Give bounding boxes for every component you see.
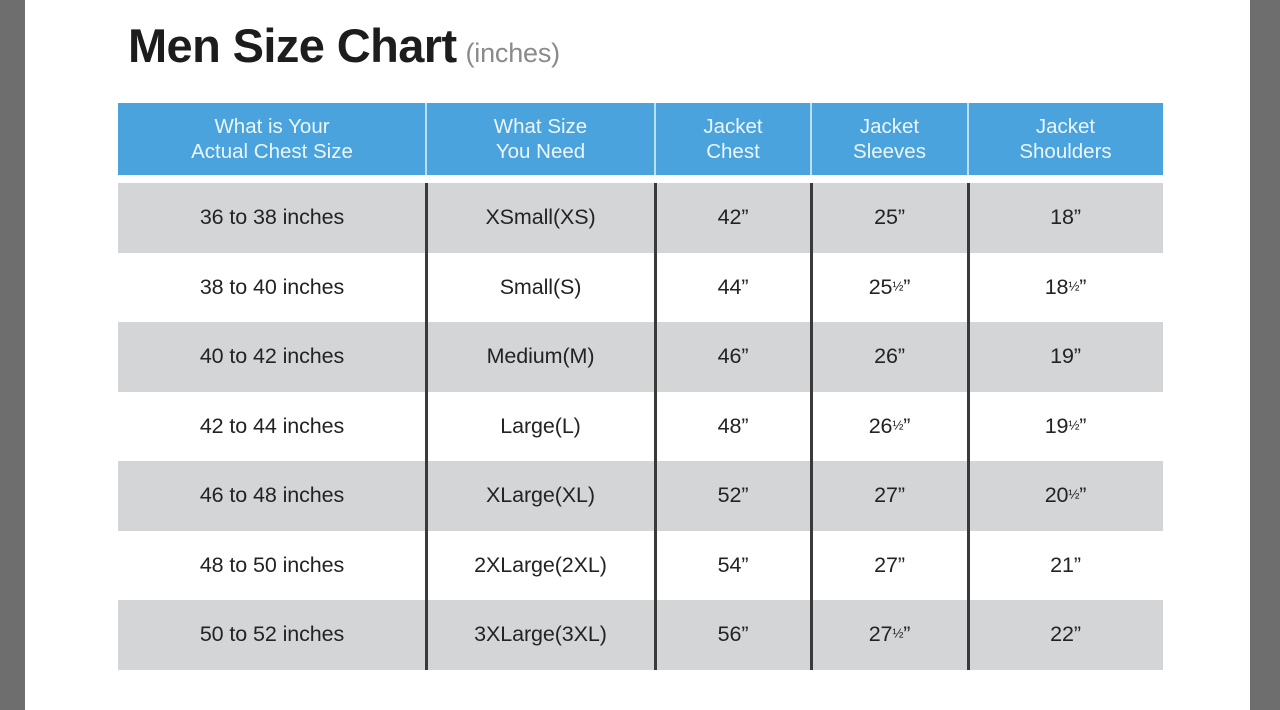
cell-chest-range: 40 to 42 inches xyxy=(118,322,426,392)
cell-jacket-shoulders-text: 18” xyxy=(1050,205,1081,230)
cell-jacket-sleeves-text: 27½” xyxy=(869,622,911,647)
column-header-line2: You Need xyxy=(496,139,585,164)
column-header-line2: Shoulders xyxy=(1019,139,1111,164)
cell-jacket-sleeves-text: 26” xyxy=(874,344,905,369)
cell-jacket-sleeves: 27” xyxy=(811,531,968,601)
cell-chest-range: 50 to 52 inches xyxy=(118,600,426,670)
column-header-line1: What Size xyxy=(494,114,587,139)
cell-chest-range: 42 to 44 inches xyxy=(118,392,426,462)
cell-jacket-chest: 56” xyxy=(655,600,811,670)
size-chart-table: What is Your Actual Chest Size What Size… xyxy=(118,103,1163,670)
cell-jacket-shoulders-text: 21” xyxy=(1050,553,1081,578)
cell-jacket-chest-text: 56” xyxy=(718,622,749,647)
table-row: 48 to 50 inches2XLarge(2XL)54”27”21” xyxy=(118,531,1163,601)
table-row: 42 to 44 inchesLarge(L)48”26½”19½” xyxy=(118,392,1163,462)
cell-size-name-text: Small(S) xyxy=(500,275,582,300)
cell-jacket-shoulders-text: 19½” xyxy=(1045,414,1087,439)
cell-jacket-shoulders-text: 19” xyxy=(1050,344,1081,369)
cell-jacket-sleeves-text: 27” xyxy=(874,553,905,578)
cell-jacket-chest: 42” xyxy=(655,183,811,253)
column-header-line1: Jacket xyxy=(703,114,762,139)
cell-jacket-sleeves-text: 26½” xyxy=(869,414,911,439)
cell-chest-range-text: 42 to 44 inches xyxy=(200,414,344,439)
cell-size-name: Small(S) xyxy=(426,253,655,323)
column-header-line1: What is Your xyxy=(214,114,329,139)
cell-chest-range-text: 46 to 48 inches xyxy=(200,483,344,508)
cell-jacket-sleeves: 26” xyxy=(811,322,968,392)
table-header-row: What is Your Actual Chest Size What Size… xyxy=(118,103,1163,175)
cell-jacket-sleeves-text: 25½” xyxy=(869,275,911,300)
table-row: 36 to 38 inchesXSmall(XS)42”25”18” xyxy=(118,183,1163,253)
table-body: 36 to 38 inchesXSmall(XS)42”25”18”38 to … xyxy=(118,183,1163,670)
cell-jacket-shoulders: 19½” xyxy=(968,392,1163,462)
cell-jacket-sleeves-text: 27” xyxy=(874,483,905,508)
cell-jacket-sleeves: 25½” xyxy=(811,253,968,323)
table-row: 50 to 52 inches3XLarge(3XL)56”27½”22” xyxy=(118,600,1163,670)
column-header-jacket-shoulders: Jacket Shoulders xyxy=(968,103,1163,175)
cell-jacket-shoulders-text: 18½” xyxy=(1045,275,1087,300)
column-header-jacket-sleeves: Jacket Sleeves xyxy=(811,103,968,175)
left-letterbox-bar xyxy=(0,0,25,710)
cell-jacket-chest-text: 54” xyxy=(718,553,749,578)
cell-chest-range-text: 38 to 40 inches xyxy=(200,275,344,300)
cell-chest-range: 48 to 50 inches xyxy=(118,531,426,601)
column-header-size-you-need: What Size You Need xyxy=(426,103,655,175)
cell-size-name: Large(L) xyxy=(426,392,655,462)
cell-chest-range: 46 to 48 inches xyxy=(118,461,426,531)
cell-chest-range-text: 50 to 52 inches xyxy=(200,622,344,647)
cell-jacket-shoulders: 18½” xyxy=(968,253,1163,323)
cell-jacket-chest-text: 46” xyxy=(718,344,749,369)
cell-jacket-chest: 46” xyxy=(655,322,811,392)
table-row: 40 to 42 inchesMedium(M)46”26”19” xyxy=(118,322,1163,392)
page-title: Men Size Chart (inches) xyxy=(128,18,560,73)
cell-jacket-sleeves-text: 25” xyxy=(874,205,905,230)
cell-jacket-shoulders-text: 22” xyxy=(1050,622,1081,647)
cell-jacket-shoulders: 18” xyxy=(968,183,1163,253)
size-chart-slide: Men Size Chart (inches) What is Your Act… xyxy=(25,0,1250,710)
column-header-actual-chest-size: What is Your Actual Chest Size xyxy=(118,103,426,175)
page-title-unit: (inches) xyxy=(466,38,560,69)
cell-jacket-chest: 44” xyxy=(655,253,811,323)
cell-jacket-sleeves: 25” xyxy=(811,183,968,253)
table-row: 46 to 48 inchesXLarge(XL)52”27”20½” xyxy=(118,461,1163,531)
cell-jacket-shoulders: 20½” xyxy=(968,461,1163,531)
cell-size-name-text: 2XLarge(2XL) xyxy=(474,553,607,578)
cell-jacket-sleeves: 27” xyxy=(811,461,968,531)
cell-chest-range: 36 to 38 inches xyxy=(118,183,426,253)
column-header-line2: Chest xyxy=(706,139,760,164)
column-header-line2: Actual Chest Size xyxy=(191,139,353,164)
cell-jacket-chest: 52” xyxy=(655,461,811,531)
cell-jacket-chest-text: 44” xyxy=(718,275,749,300)
cell-size-name: 2XLarge(2XL) xyxy=(426,531,655,601)
cell-jacket-chest: 48” xyxy=(655,392,811,462)
right-letterbox-bar xyxy=(1250,0,1280,710)
cell-size-name-text: XLarge(XL) xyxy=(486,483,595,508)
table-row: 38 to 40 inchesSmall(S)44”25½”18½” xyxy=(118,253,1163,323)
cell-jacket-shoulders-text: 20½” xyxy=(1045,483,1087,508)
column-header-line2: Sleeves xyxy=(853,139,926,164)
cell-chest-range: 38 to 40 inches xyxy=(118,253,426,323)
cell-size-name-text: Large(L) xyxy=(500,414,580,439)
cell-chest-range-text: 36 to 38 inches xyxy=(200,205,344,230)
column-header-line1: Jacket xyxy=(860,114,919,139)
cell-size-name: 3XLarge(3XL) xyxy=(426,600,655,670)
cell-size-name-text: 3XLarge(3XL) xyxy=(474,622,607,647)
cell-size-name-text: Medium(M) xyxy=(487,344,595,369)
cell-jacket-chest: 54” xyxy=(655,531,811,601)
cell-chest-range-text: 40 to 42 inches xyxy=(200,344,344,369)
cell-size-name-text: XSmall(XS) xyxy=(485,205,595,230)
cell-jacket-sleeves: 27½” xyxy=(811,600,968,670)
column-header-line1: Jacket xyxy=(1036,114,1095,139)
cell-jacket-shoulders: 22” xyxy=(968,600,1163,670)
cell-jacket-sleeves: 26½” xyxy=(811,392,968,462)
cell-jacket-chest-text: 52” xyxy=(718,483,749,508)
cell-jacket-chest-text: 48” xyxy=(718,414,749,439)
cell-size-name: Medium(M) xyxy=(426,322,655,392)
cell-size-name: XSmall(XS) xyxy=(426,183,655,253)
cell-size-name: XLarge(XL) xyxy=(426,461,655,531)
cell-jacket-shoulders: 21” xyxy=(968,531,1163,601)
page-title-main: Men Size Chart xyxy=(128,18,457,73)
cell-chest-range-text: 48 to 50 inches xyxy=(200,553,344,578)
cell-jacket-shoulders: 19” xyxy=(968,322,1163,392)
cell-jacket-chest-text: 42” xyxy=(718,205,749,230)
column-header-jacket-chest: Jacket Chest xyxy=(655,103,811,175)
